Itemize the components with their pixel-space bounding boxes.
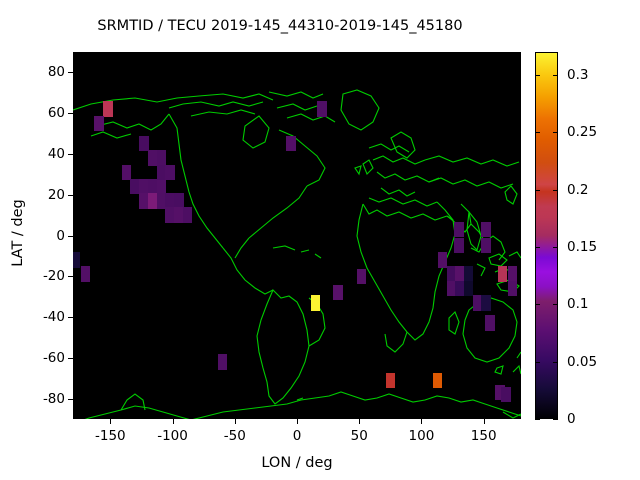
data-cell	[139, 136, 148, 151]
colorbar-tick-mark	[553, 362, 558, 363]
data-cell	[317, 101, 326, 116]
y-tick-mark	[68, 317, 73, 318]
x-tick-label: -100	[157, 428, 188, 444]
data-cell-layer	[73, 52, 521, 419]
y-tick-label: -20	[21, 268, 65, 284]
x-tick-mark	[110, 419, 111, 424]
data-cell	[218, 354, 227, 369]
colorbar-tick-mark	[535, 247, 540, 248]
data-cell	[94, 116, 103, 131]
x-tick-mark	[359, 419, 360, 424]
colorbar-tick-mark	[535, 132, 540, 133]
data-cell	[498, 266, 507, 281]
plot-figure: SRMTID / TECU 2019-145_44310-2019-145_45…	[0, 0, 640, 480]
x-tick-label: -50	[224, 428, 246, 444]
data-cell	[122, 165, 131, 180]
y-axis-label: LAT / deg	[10, 133, 26, 333]
data-cell	[286, 136, 295, 151]
colorbar-tick-mark	[535, 75, 540, 76]
colorbar-tick-label: 0.15	[567, 239, 597, 255]
x-tick-mark	[173, 419, 174, 424]
y-tick-mark	[68, 72, 73, 73]
x-tick-label: 100	[409, 428, 435, 444]
colorbar-tick-mark	[553, 247, 558, 248]
data-cell	[481, 295, 490, 310]
y-tick-label: 0	[21, 228, 65, 244]
colorbar-tick-mark	[553, 304, 558, 305]
data-cell	[481, 238, 490, 253]
y-tick-label: 20	[21, 187, 65, 203]
colorbar-tick-mark	[535, 304, 540, 305]
y-tick-mark	[68, 236, 73, 237]
y-tick-label: 80	[21, 64, 65, 80]
colorbar-tick-label: 0.1	[567, 296, 588, 312]
y-tick-label: 40	[21, 146, 65, 162]
colorbar-tick-mark	[553, 419, 558, 420]
x-tick-mark	[235, 419, 236, 424]
data-cell	[438, 252, 447, 267]
data-cell	[103, 101, 112, 116]
x-tick-label: 150	[471, 428, 497, 444]
data-cell	[464, 281, 473, 296]
page-title: SRMTID / TECU 2019-145_44310-2019-145_45…	[0, 18, 560, 34]
y-tick-label: -60	[21, 350, 65, 366]
data-cell	[454, 222, 463, 237]
data-cell	[333, 285, 342, 300]
data-cell	[433, 373, 442, 388]
data-cell	[464, 266, 473, 281]
colorbar-tick-mark	[553, 132, 558, 133]
x-axis-label: LON / deg	[73, 455, 521, 471]
colorbar-tick-mark	[535, 419, 540, 420]
y-tick-mark	[68, 399, 73, 400]
colorbar-tick-mark	[535, 362, 540, 363]
map-plot-area	[73, 52, 521, 419]
y-tick-mark	[68, 358, 73, 359]
y-tick-label: -80	[21, 391, 65, 407]
x-tick-label: 50	[351, 428, 368, 444]
colorbar-tick-label: 0.05	[567, 354, 597, 370]
colorbar-tick-mark	[553, 75, 558, 76]
y-tick-label: -40	[21, 309, 65, 325]
x-tick-label: 0	[293, 428, 302, 444]
data-cell	[157, 179, 166, 194]
x-tick-label: -150	[95, 428, 126, 444]
colorbar-tick-label: 0.3	[567, 67, 588, 83]
data-cell	[454, 238, 463, 253]
x-tick-mark	[297, 419, 298, 424]
data-cell	[508, 281, 517, 296]
data-cell	[357, 269, 366, 284]
colorbar-tick-label: 0.25	[567, 124, 597, 140]
colorbar	[535, 52, 558, 419]
data-cell	[485, 315, 494, 330]
x-tick-mark	[484, 419, 485, 424]
data-cell	[481, 222, 490, 237]
data-cell	[386, 373, 395, 388]
x-tick-mark	[421, 419, 422, 424]
data-cell	[165, 165, 174, 180]
data-cell	[311, 295, 320, 310]
data-cell	[508, 266, 517, 281]
data-cell	[73, 252, 80, 267]
data-cell	[174, 193, 183, 208]
y-tick-label: 60	[21, 105, 65, 121]
data-cell	[81, 266, 90, 281]
y-tick-mark	[68, 154, 73, 155]
colorbar-tick-mark	[535, 190, 540, 191]
data-cell	[501, 387, 510, 402]
colorbar-tick-label: 0.2	[567, 182, 588, 198]
colorbar-tick-label: 0	[567, 411, 576, 427]
y-tick-mark	[68, 113, 73, 114]
y-tick-mark	[68, 195, 73, 196]
data-cell	[183, 207, 192, 222]
colorbar-gradient	[536, 53, 557, 418]
data-cell	[157, 150, 166, 165]
colorbar-tick-mark	[553, 190, 558, 191]
y-tick-mark	[68, 276, 73, 277]
